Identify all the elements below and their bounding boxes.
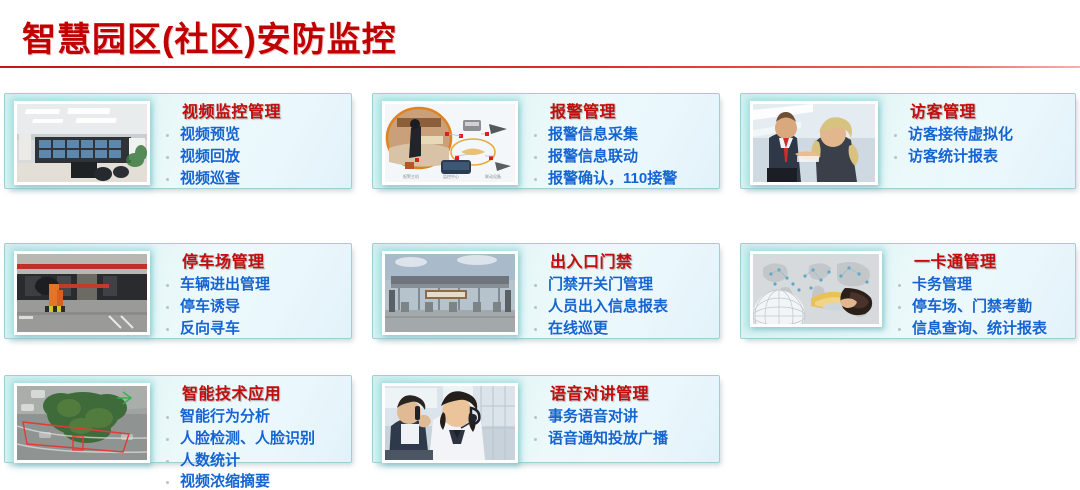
- list-item[interactable]: 报警信息采集: [532, 124, 719, 146]
- card-feature-list: 智能行为分析 人脸检测、人脸识别 人数统计 视频浓缩摘要: [164, 406, 351, 490]
- card-heading: 访客管理: [892, 98, 1075, 122]
- card-heading: 出入口门禁: [532, 248, 719, 272]
- svg-text:监控中心: 监控中心: [443, 173, 459, 179]
- list-item[interactable]: 车辆进出管理: [164, 274, 351, 296]
- thumb-frame: [382, 251, 518, 335]
- list-item[interactable]: 停车场、门禁考勤: [896, 296, 1075, 318]
- list-item[interactable]: 门禁开关门管理: [532, 274, 719, 296]
- card-text-block: 出入口门禁 门禁开关门管理 人员出入信息报表 在线巡更: [532, 244, 719, 339]
- thumb-frame: [382, 383, 518, 463]
- list-item[interactable]: 反向寻车: [164, 318, 351, 340]
- call-center-operators-photo: [385, 386, 515, 460]
- list-item[interactable]: 访客统计报表: [892, 146, 1075, 168]
- card-visitor-management[interactable]: 访客管理 访客接待虚拟化 访客统计报表: [740, 93, 1076, 189]
- card-feature-list: 视频预览 视频回放 视频巡查: [164, 124, 351, 189]
- card-heading: 智能技术应用: [164, 380, 351, 404]
- thumb-frame: [14, 101, 150, 185]
- card-text-block: 报警管理 报警信息采集 报警信息联动 报警确认，110接警: [532, 94, 719, 189]
- list-item[interactable]: 事务语音对讲: [532, 406, 719, 428]
- card-text-block: 一卡通管理 卡务管理 停车场、门禁考勤 信息查询、统计报表: [896, 244, 1075, 339]
- card-text-block: 视频监控管理 视频预览 视频回放 视频巡查: [164, 94, 351, 189]
- title-divider: [0, 66, 1080, 68]
- svg-text:报警主机: 报警主机: [403, 173, 419, 179]
- card-intelligent-analytics[interactable]: 智能技术应用 智能行为分析 人脸检测、人脸识别 人数统计 视频浓缩摘要: [4, 375, 352, 463]
- card-text-block: 停车场管理 车辆进出管理 停车诱导 反向寻车: [164, 244, 351, 339]
- card-smart-card-management[interactable]: 一卡通管理 卡务管理 停车场、门禁考勤 信息查询、统计报表: [740, 243, 1076, 339]
- thumb-frame: [750, 251, 882, 327]
- card-text-block: 访客管理 访客接待虚拟化 访客统计报表: [892, 94, 1075, 168]
- card-feature-list: 门禁开关门管理 人员出入信息报表 在线巡更: [532, 274, 719, 339]
- card-feature-list: 访客接待虚拟化 访客统计报表: [892, 124, 1075, 168]
- list-item[interactable]: 报警确认，110接警: [532, 168, 719, 190]
- card-alarm-management[interactable]: 报警主机 监控中心 联动设备 报警管理 报警信息采集 报警信息联动 报警确认，1…: [372, 93, 720, 189]
- list-item[interactable]: 智能行为分析: [164, 406, 351, 428]
- thumb-frame: [14, 383, 150, 463]
- card-video-surveillance[interactable]: 视频监控管理 视频预览 视频回放 视频巡查: [4, 93, 352, 189]
- list-item[interactable]: 卡务管理: [896, 274, 1075, 296]
- alarm-linkage-diagram-photo: 报警主机 监控中心 联动设备: [385, 104, 515, 182]
- list-item[interactable]: 报警信息联动: [532, 146, 719, 168]
- list-item[interactable]: 人数统计: [164, 450, 351, 472]
- thumb-frame: 报警主机 监控中心 联动设备: [382, 101, 518, 185]
- slide-canvas: 智慧园区(社区)安防监控: [0, 0, 1080, 490]
- smart-card-world-map-photo: [753, 254, 879, 324]
- card-text-block: 语音对讲管理 事务语音对讲 语音通知投放广播: [532, 376, 719, 450]
- card-voice-intercom-management[interactable]: 语音对讲管理 事务语音对讲 语音通知投放广播: [372, 375, 720, 463]
- card-heading: 视频监控管理: [164, 98, 351, 122]
- card-feature-list: 车辆进出管理 停车诱导 反向寻车: [164, 274, 351, 339]
- page-title: 智慧园区(社区)安防监控: [22, 12, 397, 61]
- list-item[interactable]: 视频巡查: [164, 168, 351, 190]
- list-item[interactable]: 语音通知投放广播: [532, 428, 719, 450]
- card-feature-list: 报警信息采集 报警信息联动 报警确认，110接警: [532, 124, 719, 189]
- card-heading: 报警管理: [532, 98, 719, 122]
- video-analytics-aerial-photo: [17, 386, 147, 460]
- monitoring-control-room-photo: [17, 104, 147, 182]
- card-entrance-access-control[interactable]: 出入口门禁 门禁开关门管理 人员出入信息报表 在线巡更: [372, 243, 720, 339]
- visitor-reception-handshake-photo: [753, 104, 875, 182]
- parking-garage-barrier-photo: [17, 254, 147, 332]
- list-item[interactable]: 访客接待虚拟化: [892, 124, 1075, 146]
- thumb-frame: [14, 251, 150, 335]
- list-item[interactable]: 视频浓缩摘要: [164, 471, 351, 490]
- card-parking-management[interactable]: 停车场管理 车辆进出管理 停车诱导 反向寻车: [4, 243, 352, 339]
- list-item[interactable]: 信息查询、统计报表: [896, 318, 1075, 340]
- list-item[interactable]: 视频预览: [164, 124, 351, 146]
- list-item[interactable]: 视频回放: [164, 146, 351, 168]
- list-item[interactable]: 停车诱导: [164, 296, 351, 318]
- card-heading: 一卡通管理: [896, 248, 1075, 272]
- card-feature-list: 卡务管理 停车场、门禁考勤 信息查询、统计报表: [896, 274, 1075, 339]
- entrance-gate-turnstile-photo: [385, 254, 515, 332]
- card-heading: 停车场管理: [164, 248, 351, 272]
- card-heading: 语音对讲管理: [532, 380, 719, 404]
- card-feature-list: 事务语音对讲 语音通知投放广播: [532, 406, 719, 450]
- list-item[interactable]: 人员出入信息报表: [532, 296, 719, 318]
- list-item[interactable]: 人脸检测、人脸识别: [164, 428, 351, 450]
- list-item[interactable]: 在线巡更: [532, 318, 719, 340]
- svg-text:联动设备: 联动设备: [485, 173, 501, 179]
- card-text-block: 智能技术应用 智能行为分析 人脸检测、人脸识别 人数统计 视频浓缩摘要: [164, 376, 351, 490]
- thumb-frame: [750, 101, 878, 185]
